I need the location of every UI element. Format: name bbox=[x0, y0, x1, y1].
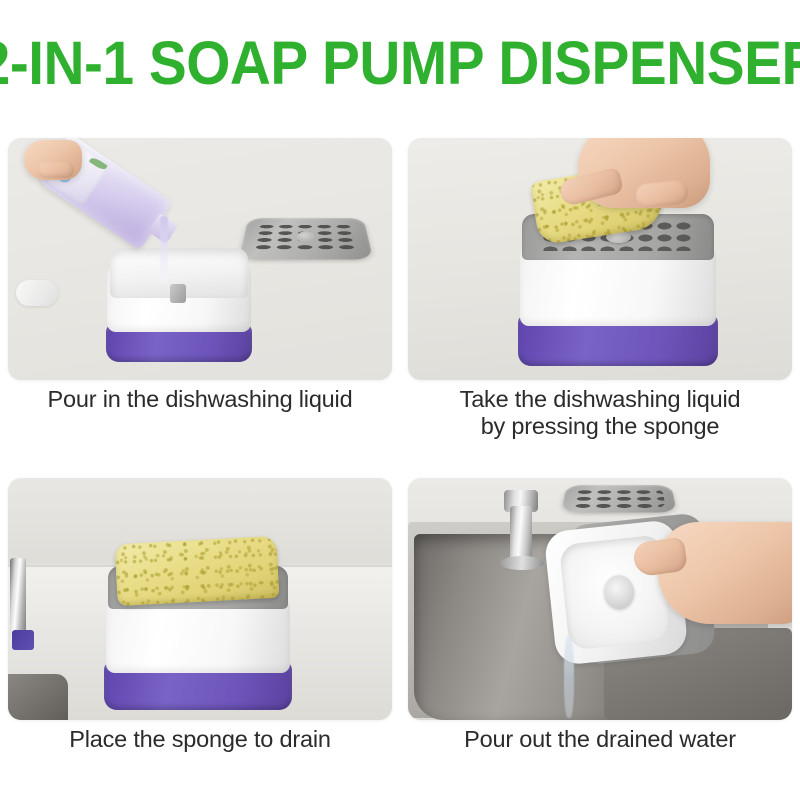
finger bbox=[38, 162, 74, 178]
caption-line: Take the dishwashing liquid bbox=[405, 386, 795, 413]
step-caption-3: Place the sponge to drain bbox=[5, 726, 395, 753]
step-card-3: Place the sponge to drain bbox=[5, 472, 395, 782]
step-caption-2: Take the dishwashing liquid by pressing … bbox=[405, 386, 795, 440]
pouring-liquid-stream bbox=[160, 216, 168, 282]
faucet-accent bbox=[12, 630, 34, 650]
pour-out-water-photo bbox=[408, 478, 792, 720]
caption-line: Pour out the drained water bbox=[405, 726, 795, 753]
hand bbox=[658, 522, 792, 624]
steps-grid: Pour in the dishwashing liquid bbox=[0, 126, 800, 800]
caption-line: Pour in the dishwashing liquid bbox=[5, 386, 395, 413]
drain-sponge-photo bbox=[8, 478, 392, 720]
lid-center-knob bbox=[297, 231, 315, 243]
step-card-2: Take the dishwashing liquid by pressing … bbox=[405, 132, 795, 442]
pump-nozzle bbox=[170, 284, 186, 302]
page-title: 2-IN-1 SOAP PUMP DISPENSER bbox=[0, 32, 800, 94]
step-card-4: Pour out the drained water bbox=[405, 472, 795, 782]
pour-liquid-photo bbox=[8, 138, 392, 380]
step-caption-1: Pour in the dishwashing liquid bbox=[5, 386, 395, 413]
pump-part bbox=[16, 280, 58, 306]
yellow-sponge bbox=[114, 536, 279, 606]
water-stream bbox=[564, 636, 574, 718]
grey-lid bbox=[561, 485, 677, 513]
title-bar: 2-IN-1 SOAP PUMP DISPENSER bbox=[0, 0, 800, 126]
caption-line: by pressing the sponge bbox=[405, 413, 795, 440]
caption-line: Place the sponge to drain bbox=[5, 726, 395, 753]
press-sponge-photo bbox=[408, 138, 792, 380]
sink-corner bbox=[8, 674, 68, 720]
lid-holes bbox=[572, 489, 666, 508]
faucet-base bbox=[500, 556, 544, 570]
step-card-1: Pour in the dishwashing liquid bbox=[5, 132, 395, 442]
step-caption-4: Pour out the drained water bbox=[405, 726, 795, 753]
grey-lid bbox=[239, 218, 374, 260]
